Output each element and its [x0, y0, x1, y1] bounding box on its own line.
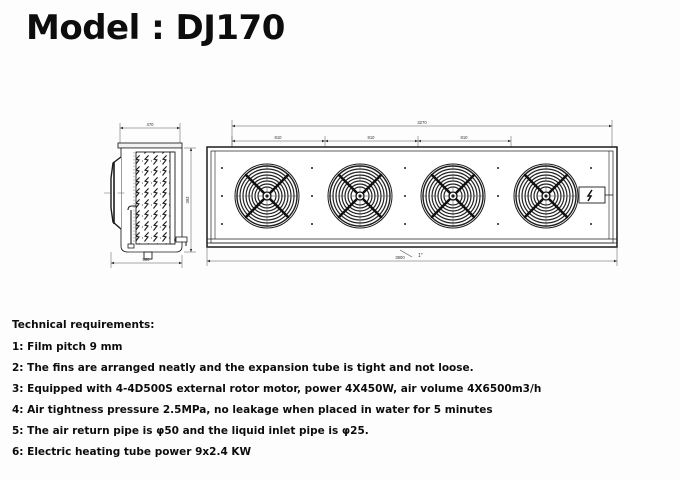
drawing-sheet: Model : DJ170	[0, 0, 680, 480]
tech-item-5: 5: The air return pipe is φ50 and the li…	[12, 426, 652, 437]
tech-item-4: 4: Air tightness pressure 2.5MPa, no lea…	[12, 405, 652, 416]
dim-side-top: 470	[147, 122, 155, 127]
technical-drawing: 470 393 680 3270 810 810 810 3800 1"	[0, 100, 680, 290]
fan-grille-4	[514, 164, 578, 228]
drawing-canvas: 470 393 680 3270 810 810 810 3800 1"	[0, 100, 680, 290]
tech-item-1: 1: Film pitch 9 mm	[12, 342, 652, 353]
dim-side-height: 393	[185, 196, 190, 204]
tech-item-3: 3: Equipped with 4-4D500S external rotor…	[12, 384, 652, 395]
dim-side-bottom: 680	[143, 257, 151, 262]
fan-grille-1	[235, 164, 299, 228]
dim-front-pitch-3: 810	[461, 135, 469, 140]
dim-front-overall-top: 3270	[417, 120, 427, 125]
dim-front-overall-bottom: 3800	[395, 255, 405, 260]
side-view-group	[104, 123, 196, 268]
front-view-group	[207, 120, 617, 266]
front-dim-overall-bottom	[207, 247, 617, 266]
technical-requirements: Technical requirements: 1: Film pitch 9 …	[12, 320, 652, 468]
tech-heading: Technical requirements:	[12, 320, 652, 331]
fan-grille-3	[421, 164, 485, 228]
page-title: Model : DJ170	[26, 8, 285, 48]
tech-item-6: 6: Electric heating tube power 9x2.4 KW	[12, 447, 652, 458]
dim-front-pitch-2: 810	[368, 135, 376, 140]
tech-item-2: 2: The fins are arranged neatly and the …	[12, 363, 652, 374]
leader-label: 1"	[418, 253, 423, 259]
dim-front-pitch-1: 810	[275, 135, 283, 140]
fan-grille-2	[328, 164, 392, 228]
